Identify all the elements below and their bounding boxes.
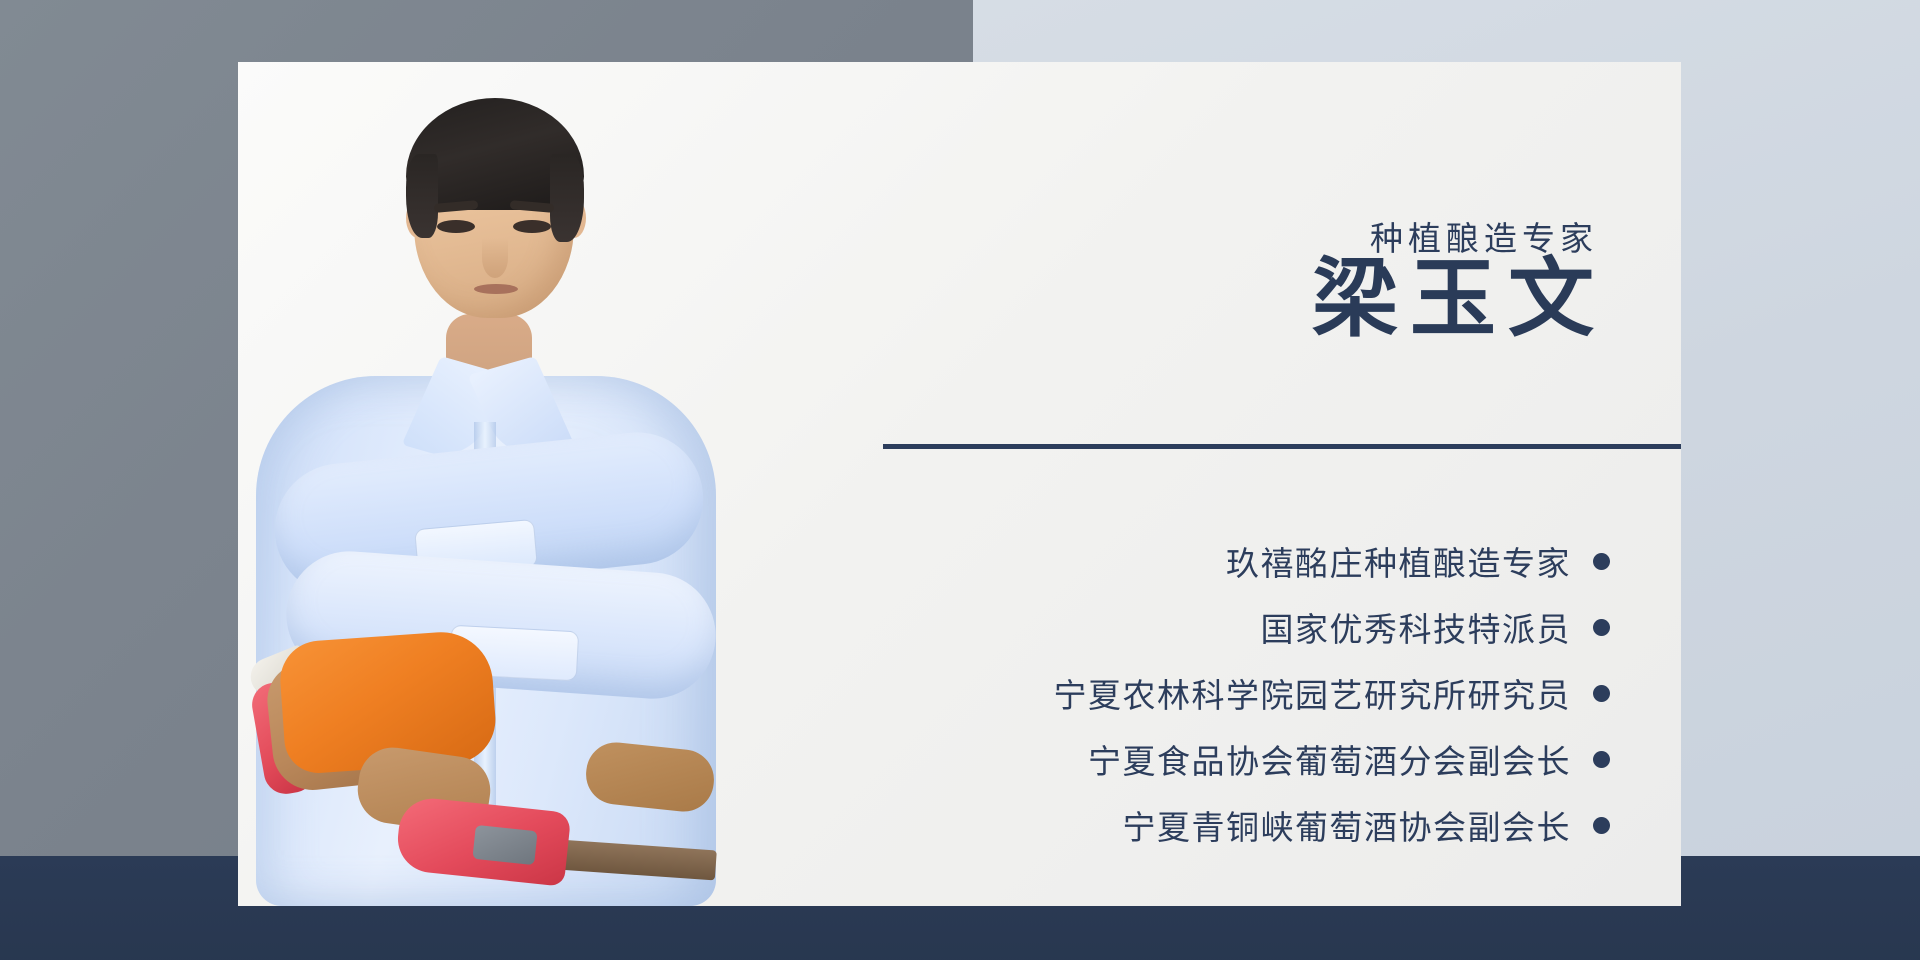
portrait-photo	[238, 62, 858, 906]
bullet-dot-icon	[1593, 817, 1610, 834]
list-item: 宁夏食品协会葡萄酒分会副会长	[858, 726, 1610, 792]
bullet-dot-icon	[1593, 685, 1610, 702]
divider-line	[883, 444, 1681, 449]
credentials-list: 玖禧酩庄种植酿造专家 国家优秀科技特派员 宁夏农林科学院园艺研究所研究员 宁夏食…	[858, 528, 1610, 858]
person-name: 梁玉文	[1312, 256, 1606, 342]
portrait-figure	[238, 62, 858, 906]
eye-right	[513, 220, 551, 233]
bullet-dot-icon	[1593, 751, 1610, 768]
pruning-shears-grip	[472, 825, 537, 865]
list-item: 宁夏农林科学院园艺研究所研究员	[858, 660, 1610, 726]
mouth	[474, 284, 518, 294]
poster-stage: 种植酿造专家 梁玉文 玖禧酩庄种植酿造专家 国家优秀科技特派员 宁夏农林科学院园…	[0, 0, 1920, 970]
credential-label: 国家优秀科技特派员	[1261, 603, 1572, 651]
bullet-dot-icon	[1593, 619, 1610, 636]
credential-label: 宁夏青铜峡葡萄酒协会副会长	[1123, 801, 1572, 849]
hair-side-left	[406, 154, 438, 238]
list-item: 玖禧酩庄种植酿造专家	[858, 528, 1610, 594]
credential-label: 玖禧酩庄种植酿造专家	[1226, 537, 1571, 585]
profile-card: 种植酿造专家 梁玉文 玖禧酩庄种植酿造专家 国家优秀科技特派员 宁夏农林科学院园…	[238, 62, 1681, 906]
info-panel: 种植酿造专家 梁玉文 玖禧酩庄种植酿造专家 国家优秀科技特派员 宁夏农林科学院园…	[858, 62, 1681, 906]
eye-left	[437, 220, 475, 233]
list-item: 宁夏青铜峡葡萄酒协会副会长	[858, 792, 1610, 858]
hair-side-right	[550, 154, 584, 242]
nose	[482, 238, 508, 278]
credential-label: 宁夏食品协会葡萄酒分会副会长	[1088, 735, 1571, 783]
credential-label: 宁夏农林科学院园艺研究所研究员	[1054, 669, 1572, 717]
list-item: 国家优秀科技特派员	[858, 594, 1610, 660]
background-white-strip	[0, 960, 1920, 970]
bullet-dot-icon	[1593, 553, 1610, 570]
